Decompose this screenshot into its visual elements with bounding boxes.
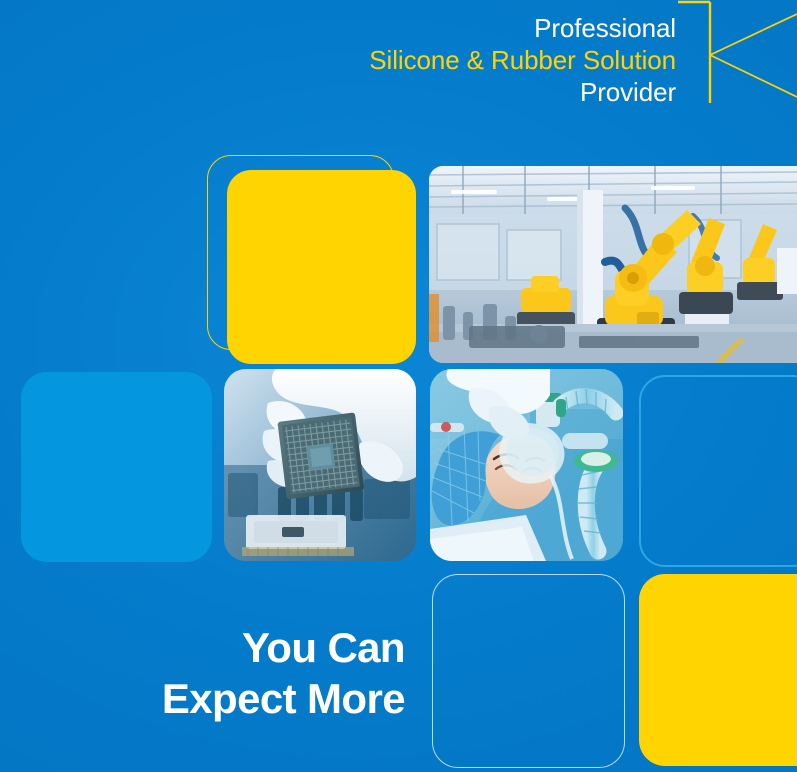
light-blue-outline-tile [639,375,797,567]
semiconductor-photo [224,369,416,561]
slogan-line-2: Expect More [40,673,405,724]
slogan: You Can Expect More [40,622,405,724]
headline: Professional Silicone & Rubber Solution … [300,13,676,109]
headline-line-2: Silicone & Rubber Solution [300,45,676,77]
brochure-cover: Professional Silicone & Rubber Solution … [0,0,797,772]
headline-line-1: Professional [300,13,676,45]
yellow-solid-tile [227,170,416,364]
light-blue-solid-tile [21,372,212,562]
factory-robotics-photo [429,166,797,363]
medical-anesthesia-photo [430,369,623,561]
headline-line-3: Provider [300,77,676,109]
yellow-solid-tile-bottom [639,574,797,766]
slogan-line-1: You Can [40,622,405,673]
white-outline-tile [432,574,625,768]
